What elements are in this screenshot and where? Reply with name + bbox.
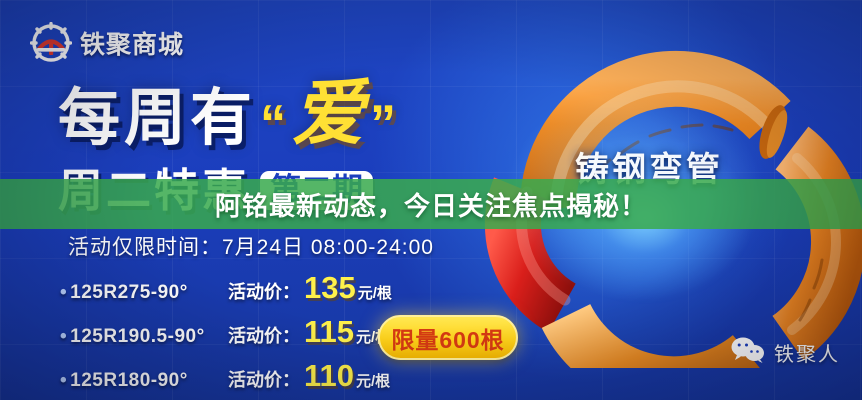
headline-quote-open: “ bbox=[260, 98, 286, 150]
table-row: •125R180-90° 活动价： 110 元/根 bbox=[60, 358, 392, 394]
product-spec: •125R275-90° bbox=[60, 282, 228, 304]
price-label: 活动价： bbox=[228, 322, 300, 348]
promo-banner: 铸钢弯管 bbox=[0, 0, 862, 400]
table-row: •125R275-90° 活动价： 135 元/根 bbox=[60, 270, 392, 306]
product-spec: •125R180-90° bbox=[60, 370, 228, 392]
wechat-name: 铁聚人 bbox=[774, 338, 840, 367]
price-amount: 110 bbox=[304, 358, 354, 394]
price-list: •125R275-90° 活动价： 135 元/根 •125R190.5-90°… bbox=[60, 270, 392, 394]
overlay-headline: 阿铭最新动态，今日关注焦点揭秘！ bbox=[0, 179, 862, 229]
bullet-icon: • bbox=[60, 370, 67, 391]
wechat-icon bbox=[731, 337, 765, 368]
brand-logo[interactable]: 铁聚商城 bbox=[30, 22, 184, 64]
table-row: •125R190.5-90° 活动价： 115 元/根 bbox=[60, 314, 392, 350]
price-amount: 115 bbox=[304, 314, 354, 350]
gear-pipe-icon bbox=[30, 22, 72, 64]
wechat-account[interactable]: 铁聚人 bbox=[731, 337, 840, 368]
activity-time-label: 活动仅限时间：7月24日 08:00-24:00 bbox=[68, 231, 434, 261]
brand-name: 铁聚商城 bbox=[80, 25, 184, 61]
headline-quote-close: ” bbox=[370, 98, 396, 150]
price-amount: 135 bbox=[304, 270, 356, 306]
headline: 每周有 “ 爱 ” bbox=[58, 78, 396, 150]
product-spec: •125R190.5-90° bbox=[60, 326, 228, 348]
bullet-icon: • bbox=[60, 282, 67, 303]
limited-quantity-badge: 限量600根 bbox=[378, 315, 518, 360]
headline-part1: 每周有 bbox=[58, 88, 256, 150]
price-label: 活动价： bbox=[228, 366, 300, 392]
price-label: 活动价： bbox=[228, 278, 300, 304]
price-unit: 元/根 bbox=[356, 370, 390, 391]
bullet-icon: • bbox=[60, 326, 67, 347]
price-unit: 元/根 bbox=[358, 282, 392, 303]
headline-emphasis: 爱 bbox=[292, 78, 364, 150]
